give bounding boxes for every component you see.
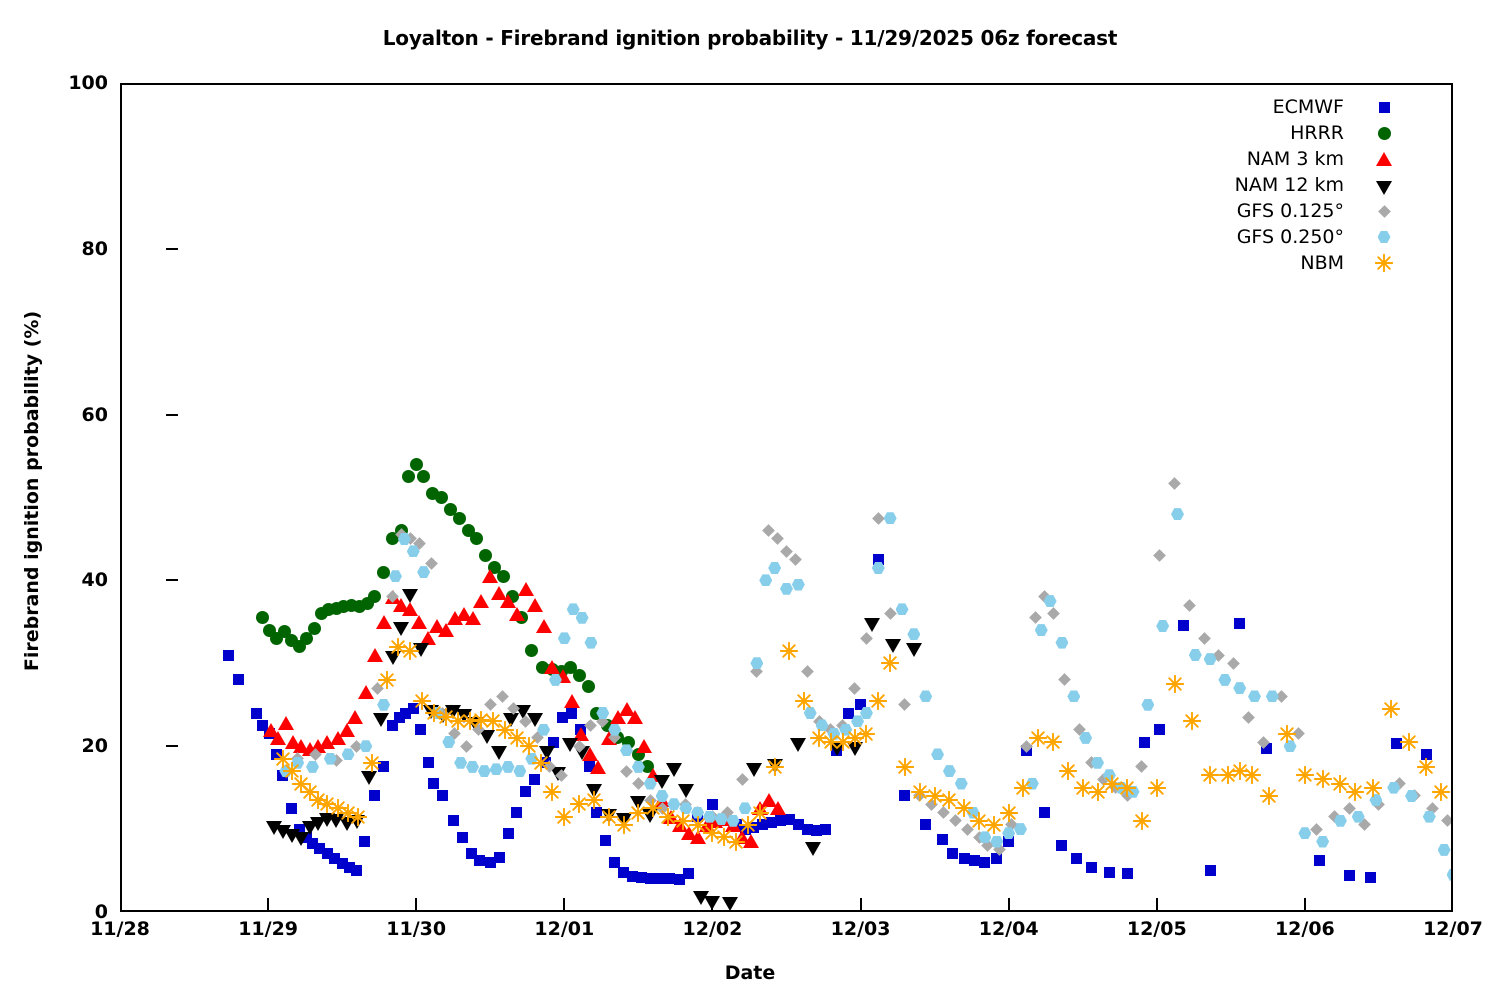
x-tick-mark (711, 898, 713, 912)
x-tick-label: 11/28 (60, 918, 180, 940)
legend-item-nbm[interactable]: NBM (1190, 250, 1390, 276)
x-tick-label: 12/06 (1245, 918, 1365, 940)
legend-label: GFS 0.250° (1237, 224, 1344, 250)
x-tick-label: 12/03 (801, 918, 921, 940)
legend-marker-glyph (1378, 231, 1391, 243)
legend-marker-glyph (1376, 181, 1392, 195)
x-tick-mark (1156, 898, 1158, 912)
x-tick-mark (1008, 898, 1010, 912)
legend-item-nam-3-km[interactable]: NAM 3 km (1190, 146, 1390, 172)
legend-item-ecmwf[interactable]: ECMWF (1190, 94, 1390, 120)
legend: ECMWFHRRRNAM 3 kmNAM 12 kmGFS 0.125°GFS … (1190, 94, 1390, 276)
legend-label: ECMWF (1273, 94, 1344, 120)
legend-marker-glyph (1378, 127, 1391, 140)
legend-label: NBM (1300, 250, 1344, 276)
legend-item-hrrr[interactable]: HRRR (1190, 120, 1390, 146)
x-tick-mark (563, 898, 565, 912)
legend-label: HRRR (1290, 120, 1344, 146)
legend-item-nam-12-km[interactable]: NAM 12 km (1190, 172, 1390, 198)
legend-item-gfs-0-125[interactable]: GFS 0.125° (1190, 198, 1390, 224)
x-tick-mark (860, 898, 862, 912)
x-tick-label: 11/30 (356, 918, 476, 940)
y-axis-label: Firebrand ignition probability (%) (21, 211, 43, 771)
x-axis-label: Date (0, 962, 1500, 984)
x-tick-label: 12/02 (652, 918, 772, 940)
chart-root: Loyalton - Firebrand ignition probabilit… (0, 0, 1500, 1000)
x-tick-label: 12/07 (1393, 918, 1500, 940)
legend-marker-glyph (1375, 254, 1393, 272)
x-tick-mark (1304, 898, 1306, 912)
legend-marker-glyph (1379, 102, 1390, 113)
x-tick-label: 12/01 (504, 918, 624, 940)
x-tick-label: 12/05 (1097, 918, 1217, 940)
x-tick-label: 11/29 (208, 918, 328, 940)
legend-item-gfs-0-250[interactable]: GFS 0.250° (1190, 224, 1390, 250)
legend-label: NAM 12 km (1235, 172, 1344, 198)
legend-marker-glyph (1376, 152, 1392, 166)
legend-label: GFS 0.125° (1237, 198, 1344, 224)
x-tick-mark (415, 898, 417, 912)
x-tick-mark (267, 898, 269, 912)
legend-marker-glyph (1378, 205, 1391, 218)
legend-label: NAM 3 km (1247, 146, 1344, 172)
x-tick-label: 12/04 (949, 918, 1069, 940)
